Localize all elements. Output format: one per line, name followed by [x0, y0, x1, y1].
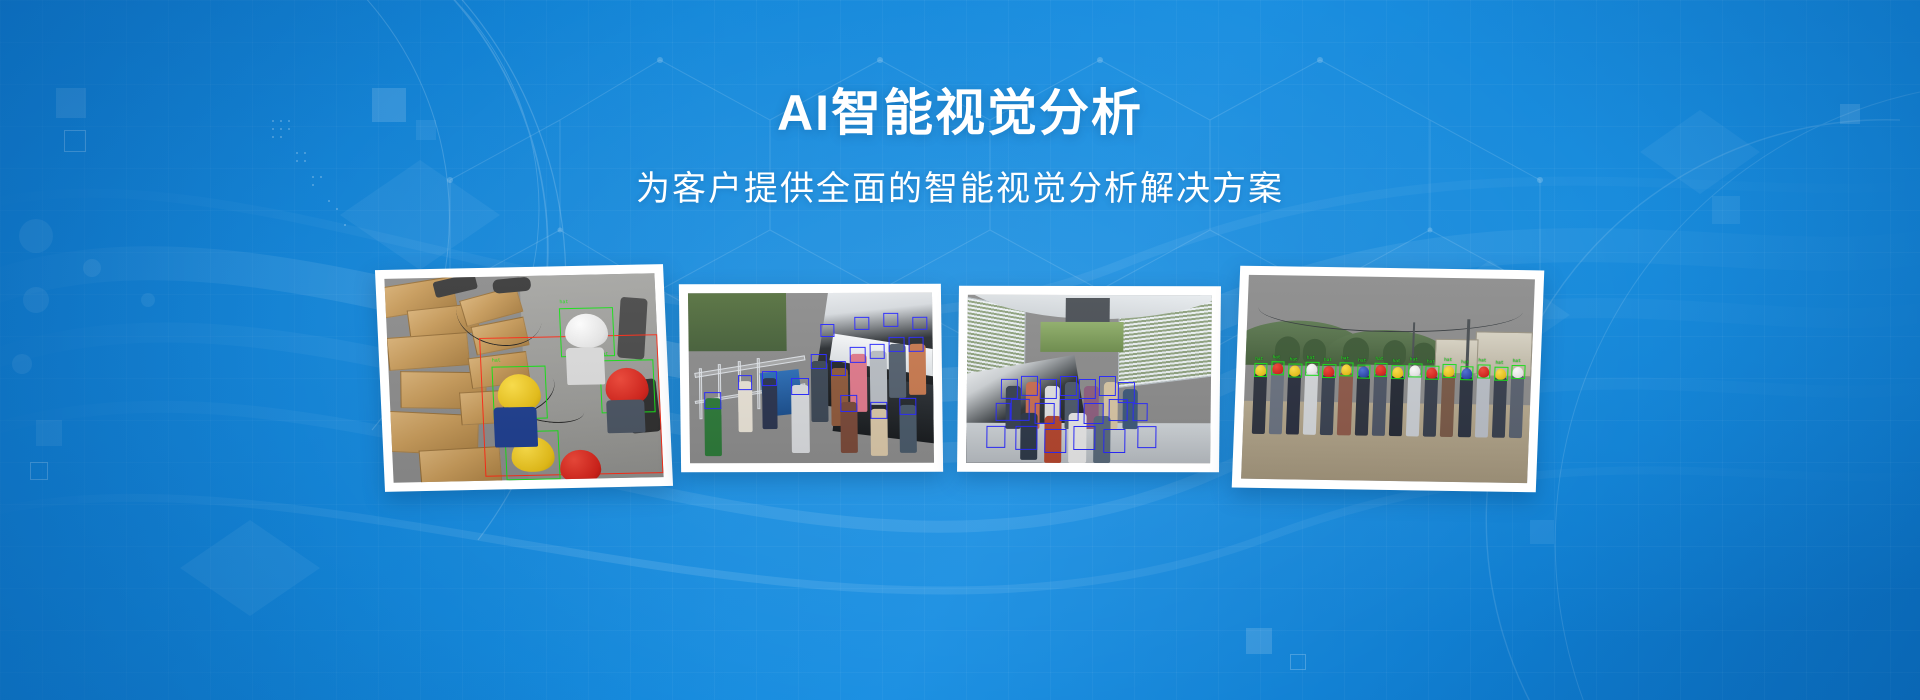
outdoor-person-9: [1389, 375, 1404, 436]
worker-torso-2: [566, 348, 605, 385]
outdoor-label-4: hat: [1307, 356, 1315, 361]
outdoor-detection-box-6: hat: [1339, 362, 1353, 376]
detection-showcase-gallery: hat hat hat hat: [380, 262, 1540, 512]
outdoor-person-11: [1423, 375, 1438, 436]
station-box-9: [1035, 402, 1055, 424]
outdoor-label-8: hat: [1375, 357, 1383, 362]
station-box-13: [1015, 426, 1037, 450]
decor-square-8: [1246, 628, 1272, 654]
station-detection-photo: [966, 295, 1212, 463]
outdoor-person-14: [1474, 374, 1490, 437]
detection-label-1: hat: [559, 300, 568, 305]
face-box-12: [870, 402, 887, 419]
outdoor-label-12: hat: [1444, 359, 1452, 364]
face-box-10: [908, 337, 924, 352]
station-box-15: [1074, 426, 1096, 450]
outdoor-label-15: hat: [1495, 361, 1503, 366]
face-box-16: [883, 313, 898, 327]
station-box-19: [1137, 426, 1157, 448]
outdoor-person-3: [1286, 373, 1301, 434]
outdoor-person-13: [1457, 376, 1472, 437]
station-box-4: [1060, 376, 1077, 396]
station-box-3: [1040, 379, 1057, 399]
station-box-6: [1099, 376, 1116, 396]
station-box-17: [996, 402, 1011, 420]
outdoor-label-1: hat: [1255, 358, 1263, 363]
outdoor-label-5: hat: [1324, 359, 1332, 364]
outdoor-label-10: hat: [1410, 358, 1418, 363]
station-box-18: [1132, 403, 1147, 421]
decor-square-4: [30, 462, 48, 480]
outdoor-detection-box-15: hat: [1494, 366, 1508, 380]
outdoor-label-7: hat: [1358, 359, 1366, 364]
person-5: [811, 361, 829, 422]
page-subtitle: 为客户提供全面的智能视觉分析解决方案: [0, 169, 1920, 210]
outdoor-person-2: [1269, 371, 1285, 434]
outdoor-label-9: hat: [1392, 360, 1400, 365]
face-box-4: [791, 378, 808, 395]
face-box-5: [811, 354, 827, 369]
outdoor-detection-box-12: hat: [1442, 364, 1456, 378]
worker-torso-3: [606, 400, 645, 433]
face-box-15: [854, 317, 869, 331]
decor-square-9: [1290, 654, 1306, 670]
station-box-8: [1010, 399, 1030, 421]
face-box-2: [738, 375, 753, 390]
outdoor-detection-box-1: hat: [1254, 363, 1268, 377]
outdoor-label-3: hat: [1289, 358, 1297, 363]
outdoor-detection-box-9: hat: [1391, 365, 1405, 379]
outdoor-label-11: hat: [1427, 360, 1435, 365]
skywalk-foliage: [688, 293, 786, 351]
face-box-7: [850, 347, 866, 362]
outdoor-label-6: hat: [1341, 357, 1349, 362]
outdoor-person-8: [1371, 373, 1387, 436]
gallery-card-skywalk-face-detection[interactable]: [679, 284, 943, 472]
warehouse-box-3: [386, 332, 470, 370]
station-box-2: [1020, 376, 1037, 396]
face-box-1: [704, 392, 721, 409]
detection-label-2: hat: [492, 358, 501, 363]
station-trees: [1040, 322, 1123, 352]
face-box-14: [820, 324, 835, 338]
outdoor-detection-box-5: hat: [1322, 364, 1336, 378]
face-box-8: [869, 344, 885, 359]
outdoor-person-1: [1251, 373, 1266, 434]
skywalk-detection-photo: [688, 293, 934, 463]
outdoor-label-16: hat: [1513, 360, 1521, 365]
face-box-6: [830, 361, 846, 376]
outdoor-person-7: [1354, 374, 1369, 435]
outdoor-detection-box-11: hat: [1425, 365, 1439, 379]
outdoor-label-14: hat: [1478, 359, 1486, 364]
outdoor-person-4: [1303, 372, 1319, 435]
face-box-13: [899, 398, 916, 415]
decor-square-12: [1530, 520, 1554, 544]
skywalk-baluster-1: [699, 368, 703, 419]
face-box-11: [840, 395, 857, 412]
outdoor-detection-box-4: hat: [1305, 361, 1319, 375]
face-box-3: [762, 371, 777, 386]
outdoor-detection-box-10: hat: [1408, 363, 1422, 377]
face-box-9: [889, 337, 905, 352]
station-box-12: [1108, 399, 1128, 421]
station-box-10: [1059, 399, 1079, 421]
outdoor-detection-box-13: hat: [1460, 366, 1474, 380]
warehouse-detection-photo: hat hat hat hat: [384, 273, 663, 482]
station-box-1: [1001, 379, 1018, 399]
outdoor-person-10: [1406, 373, 1422, 436]
page-title: AI智能视觉分析: [0, 86, 1920, 141]
face-box-17: [913, 317, 928, 331]
outdoor-detection-box-3: hat: [1288, 363, 1302, 377]
outdoor-label-13: hat: [1461, 361, 1469, 366]
station-box-20: [986, 426, 1006, 448]
outdoor-detection-box-14: hat: [1477, 364, 1491, 378]
gallery-card-station-crowd-detection[interactable]: [957, 286, 1221, 472]
outdoor-label-2: hat: [1272, 356, 1280, 361]
decor-square-3: [36, 420, 62, 446]
worker-torso-1: [493, 406, 538, 448]
station-box-5: [1079, 379, 1096, 399]
station-box-16: [1103, 429, 1125, 453]
outdoor-detection-box-2: hat: [1271, 361, 1285, 375]
outdoor-person-6: [1337, 372, 1353, 435]
outdoor-detection-photo: hat hat hat hat hat hat hat hat hat hat …: [1241, 275, 1535, 483]
outdoor-detection-box-16: hat: [1511, 365, 1525, 379]
station-box-14: [1044, 429, 1066, 453]
gallery-card-warehouse-helmet-detection[interactable]: hat hat hat hat: [375, 264, 673, 492]
outdoor-person-15: [1492, 377, 1507, 438]
outdoor-detection-box-7: hat: [1357, 364, 1371, 378]
banner-copy: AI智能视觉分析 为客户提供全面的智能视觉分析解决方案: [0, 86, 1920, 210]
outdoor-detection-box-8: hat: [1374, 362, 1388, 376]
gallery-card-outdoor-helmet-detection[interactable]: hat hat hat hat hat hat hat hat hat hat …: [1232, 266, 1545, 493]
outdoor-person-16: [1509, 375, 1525, 438]
ai-vision-hero-banner: AI智能视觉分析 为客户提供全面的智能视觉分析解决方案: [0, 0, 1920, 700]
station-box-11: [1084, 403, 1104, 425]
